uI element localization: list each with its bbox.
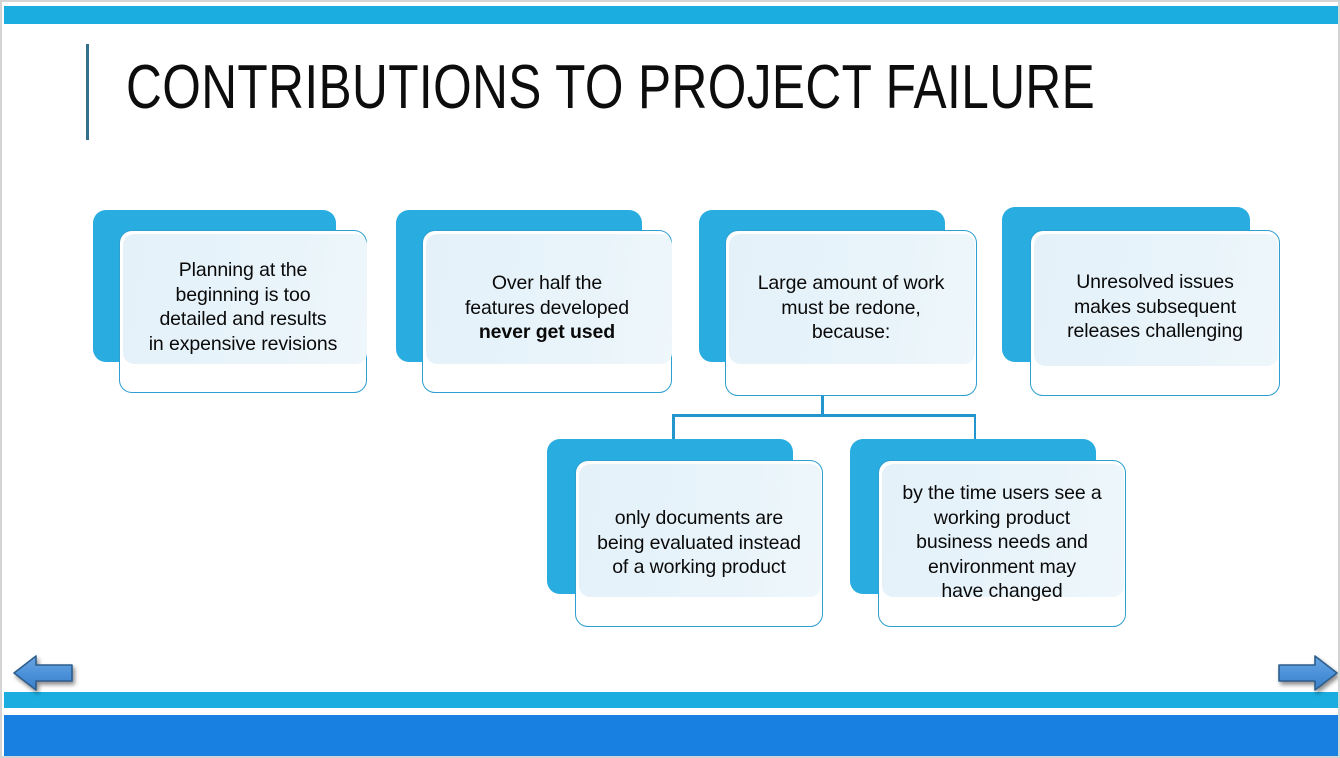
card-text-line: Over half the <box>426 271 668 296</box>
card-features-unused[interactable]: Over half the features developed never g… <box>396 210 676 395</box>
card-text-line: features developed <box>426 296 668 321</box>
connector-horizontal-bar <box>672 414 976 417</box>
card-text-line: environment may <box>882 555 1122 580</box>
card-text-line: releases challenging <box>1034 319 1276 344</box>
card-text: by the time users see a working product … <box>882 481 1122 604</box>
card-text-line: by the time users see a <box>882 481 1122 506</box>
card-text-line: have changed <box>882 579 1122 604</box>
card-rework[interactable]: Large amount of work must be redone, bec… <box>699 210 984 395</box>
card-needs-changed[interactable]: by the time users see a working product … <box>850 439 1135 629</box>
card-text-line-emphasis: never get used <box>426 320 668 345</box>
card-text-line: makes subsequent <box>1034 295 1276 320</box>
card-planning-detail[interactable]: Planning at the beginning is too detaile… <box>93 210 373 395</box>
top-accent-bar <box>4 6 1338 24</box>
previous-slide-button[interactable] <box>12 652 74 699</box>
card-text-line: beginning is too <box>123 283 363 308</box>
card-text-line: Planning at the <box>123 258 363 283</box>
card-unresolved-issues[interactable]: Unresolved issues makes subsequent relea… <box>1002 207 1287 395</box>
card-text: Over half the features developed never g… <box>426 271 668 345</box>
page-title: CONTRIBUTIONS TO PROJECT FAILURE <box>126 50 974 126</box>
card-text-line: only documents are <box>579 506 819 531</box>
card-text-line: Large amount of work <box>729 271 973 296</box>
next-slide-button[interactable] <box>1277 652 1339 699</box>
card-text-line: Unresolved issues <box>1034 270 1276 295</box>
card-text: Large amount of work must be redone, bec… <box>729 271 973 345</box>
card-documents-evaluated[interactable]: only documents are being evaluated inste… <box>547 439 832 629</box>
card-text: Unresolved issues makes subsequent relea… <box>1034 270 1276 344</box>
card-text-line: in expensive revisions <box>123 332 363 357</box>
card-text: Planning at the beginning is too detaile… <box>123 258 363 356</box>
card-text-line: must be redone, <box>729 296 973 321</box>
presentation-slide: CONTRIBUTIONS TO PROJECT FAILURE Plannin… <box>0 0 1340 758</box>
bottom-thick-accent-bar <box>4 715 1338 758</box>
card-text-line: because: <box>729 320 973 345</box>
card-text-line: being evaluated instead <box>579 531 819 556</box>
bottom-thin-accent-bar <box>4 692 1338 708</box>
card-text-line: business needs and <box>882 530 1122 555</box>
card-text-line: working product <box>882 506 1122 531</box>
card-text-line: detailed and results <box>123 307 363 332</box>
card-text: only documents are being evaluated inste… <box>579 506 819 580</box>
card-text-line: of a working product <box>579 555 819 580</box>
arrow-right-icon <box>1277 652 1339 694</box>
arrow-left-icon <box>12 652 74 694</box>
title-accent-bar <box>86 44 89 140</box>
